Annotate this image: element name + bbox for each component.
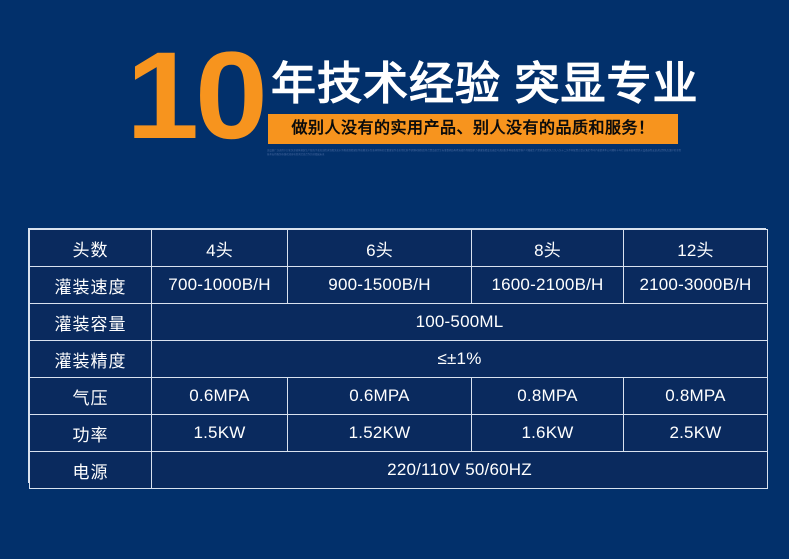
spec-cell: 2100-3000B/H — [624, 267, 768, 304]
spec-cell: 0.8MPA — [472, 378, 624, 415]
specification-table: 头数4头6头8头12头灌装速度700-1000B/H900-1500B/H160… — [28, 228, 766, 483]
spec-cell: 12头 — [624, 230, 768, 267]
spec-cell: 0.6MPA — [152, 378, 288, 415]
spec-cell: 100-500ML — [152, 304, 768, 341]
spec-row-label: 气压 — [30, 378, 152, 415]
spec-cell: 900-1500B/H — [288, 267, 472, 304]
spec-table-body: 头数4头6头8头12头灌装速度700-1000B/H900-1500B/H160… — [30, 230, 768, 489]
spec-cell: 0.6MPA — [288, 378, 472, 415]
spec-row-label: 头数 — [30, 230, 152, 267]
spec-row-label: 灌装容量 — [30, 304, 152, 341]
spec-cell: 8头 — [472, 230, 624, 267]
spec-row: 头数4头6头8头12头 — [30, 230, 768, 267]
spec-cell: 1.52KW — [288, 415, 472, 452]
spec-row-label: 电源 — [30, 452, 152, 489]
hero-section: 10 年技术经验 突显专业 做别人没有的实用产品、别人没有的品质和服务！ 该设备… — [0, 0, 789, 200]
spec-cell: 700-1000B/H — [152, 267, 288, 304]
spec-row-label: 灌装精度 — [30, 341, 152, 378]
spec-cell: 1.5KW — [152, 415, 288, 452]
spec-cell: ≤±1% — [152, 341, 768, 378]
spec-row-label: 功率 — [30, 415, 152, 452]
spec-row: 电源220/110V 50/60HZ — [30, 452, 768, 489]
spec-cell: 2.5KW — [624, 415, 768, 452]
product-spec-banner: 10 年技术经验 突显专业 做别人没有的实用产品、别人没有的品质和服务！ 该设备… — [0, 0, 789, 559]
spec-cell: 4头 — [152, 230, 288, 267]
spec-row: 灌装精度≤±1% — [30, 341, 768, 378]
spec-cell: 0.8MPA — [624, 378, 768, 415]
spec-row: 功率1.5KW1.52KW1.6KW2.5KW — [30, 415, 768, 452]
hero-slogan-banner: 做别人没有的实用产品、别人没有的品质和服务！ — [268, 114, 678, 144]
spec-cell: 6头 — [288, 230, 472, 267]
hero-headline: 年技术经验 突显专业 — [271, 56, 683, 112]
spec-row-label: 灌装速度 — [30, 267, 152, 304]
micro-description-text: 该设备广泛适用于日化洗涤液体灌装生产线洗手液洗洁精沐浴露洗发水消毒液酒精凝胶等粘… — [267, 149, 681, 175]
spec-cell: 220/110V 50/60HZ — [152, 452, 768, 489]
years-number: 10 — [126, 34, 264, 158]
spec-row: 灌装速度700-1000B/H900-1500B/H1600-2100B/H21… — [30, 267, 768, 304]
spec-cell: 1600-2100B/H — [472, 267, 624, 304]
spec-row: 气压0.6MPA0.6MPA0.8MPA0.8MPA — [30, 378, 768, 415]
spec-cell: 1.6KW — [472, 415, 624, 452]
spec-row: 灌装容量100-500ML — [30, 304, 768, 341]
